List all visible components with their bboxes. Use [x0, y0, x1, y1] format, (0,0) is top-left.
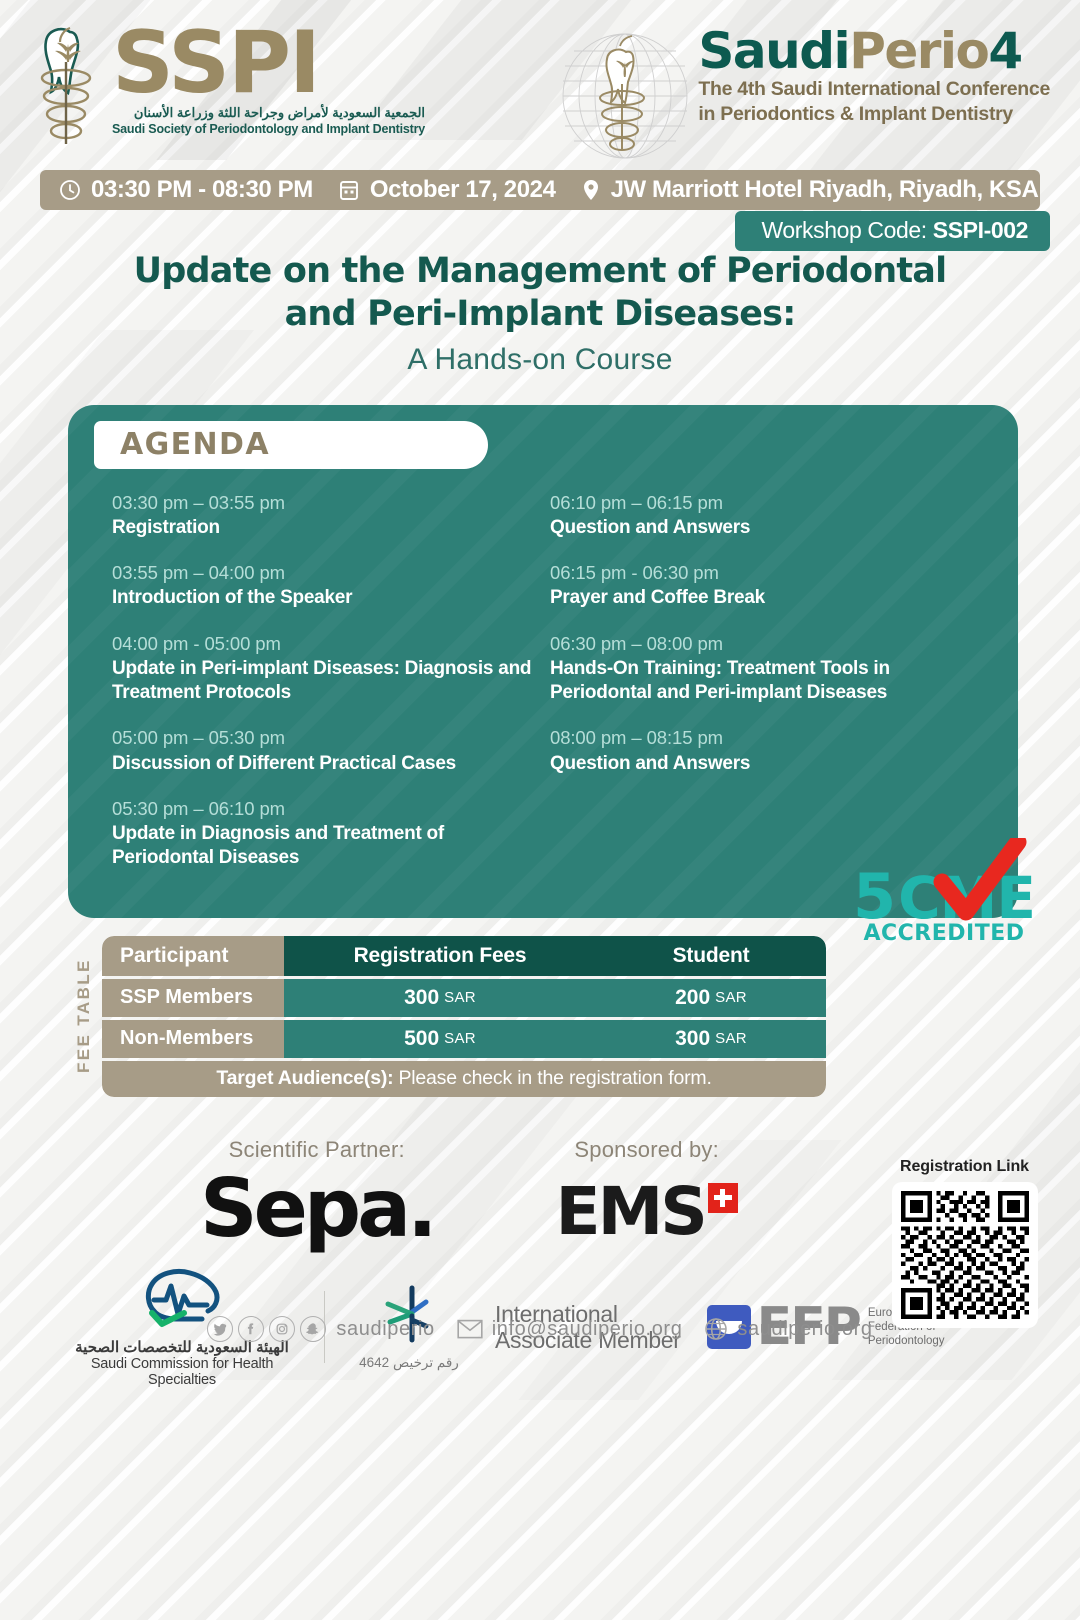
- saudiperio4-logo: SaudiPerio4 The 4th Saudi International …: [560, 26, 1050, 166]
- workshop-code-label: Workshop Code:: [761, 217, 932, 243]
- agenda-item: 03:55 pm – 04:00 pm Introduction of the …: [112, 561, 536, 610]
- twitter-icon[interactable]: [207, 1316, 233, 1342]
- qr-card[interactable]: [892, 1182, 1038, 1328]
- fee-table-side-label: FEE TABLE: [74, 950, 94, 1082]
- sponsor-block: Sponsored by: EMS: [556, 1137, 738, 1249]
- fee-row-fee: 500SAR: [284, 1020, 596, 1058]
- agenda-item: 06:30 pm – 08:00 pm Hands-On Training: T…: [550, 632, 974, 706]
- agenda-item-title: Registration: [112, 516, 536, 540]
- event-date-text: October 17, 2024: [370, 176, 556, 204]
- sspi-english-name: Saudi Society of Periodontology and Impl…: [112, 122, 425, 136]
- globe-icon: [704, 1317, 728, 1341]
- agenda-item-title: Question and Answers: [550, 516, 974, 540]
- agenda-left-column: 03:30 pm – 03:55 pm Registration 03:55 p…: [112, 491, 550, 892]
- location-pin-icon: [580, 178, 602, 202]
- fee-table: Participant Registration Fees Student SS…: [102, 936, 826, 1097]
- fee-row-student-amount: 300: [675, 1027, 710, 1051]
- fee-header-student: Student: [596, 936, 826, 976]
- agenda-item-time: 04:00 pm - 05:00 pm: [112, 632, 536, 655]
- event-time: 03:30 PM - 08:30 PM: [58, 176, 313, 204]
- agenda-item-time: 08:00 pm – 08:15 pm: [550, 726, 974, 749]
- title-line-1: Update on the Management of Periodontal: [60, 250, 1020, 293]
- agenda-right-column: 06:10 pm – 06:15 pm Question and Answers…: [550, 491, 988, 892]
- agenda-item-time: 05:30 pm – 06:10 pm: [112, 797, 536, 820]
- poster-header: SSPI الجمعية السعودية لأمراض وجراحة اللث…: [0, 0, 1080, 170]
- fee-row-student-amount: 200: [675, 986, 710, 1010]
- website-text: saudiperio.org: [737, 1318, 872, 1341]
- fee-row-student: 200SAR: [596, 979, 826, 1017]
- conference-subtitle-line2: in Periodontics & Implant Dentistry: [698, 103, 1050, 126]
- agenda-item: 06:15 pm - 06:30 pm Prayer and Coffee Br…: [550, 561, 974, 610]
- fee-row-fee-amount: 300: [404, 986, 439, 1010]
- license-number: رقم ترخيص 4642: [345, 1355, 473, 1371]
- fee-row-participant: Non-Members: [102, 1020, 284, 1058]
- agenda-item-title: Discussion of Different Practical Cases: [112, 752, 536, 776]
- agenda-panel: AGENDA 03:30 pm – 03:55 pm Registration …: [68, 405, 1018, 918]
- agenda-item-time: 06:10 pm – 06:15 pm: [550, 491, 974, 514]
- fee-row-fee-unit: SAR: [444, 1030, 476, 1047]
- fee-table-header-row: Participant Registration Fees Student: [102, 936, 826, 976]
- caduceus-tooth-icon: [30, 22, 108, 150]
- email-icon: [457, 1319, 483, 1339]
- sspi-text-block: SSPI الجمعية السعودية لأمراض وجراحة اللث…: [112, 24, 425, 136]
- fee-header-participant: Participant: [102, 936, 284, 976]
- title-line-2: and Peri-Implant Diseases:: [60, 293, 1020, 336]
- agenda-item-title: Prayer and Coffee Break: [550, 586, 974, 610]
- email-text: info@saudiperio.org: [492, 1318, 683, 1341]
- agenda-item: 04:00 pm - 05:00 pm Update in Peri-impla…: [112, 632, 536, 706]
- calendar-icon: [337, 178, 361, 202]
- sepa-logo: Sepa.: [200, 1169, 434, 1249]
- agenda-item-title: Introduction of the Speaker: [112, 586, 536, 610]
- poster-title-block: Update on the Management of Periodontal …: [0, 246, 1080, 377]
- agenda-item-title: Update in Diagnosis and Treatment of Per…: [112, 822, 536, 871]
- target-audience-label: Target Audience(s):: [216, 1067, 393, 1090]
- scientific-partner-block: Scientific Partner: Sepa.: [200, 1137, 434, 1249]
- sspi-logo: SSPI الجمعية السعودية لأمراض وجراحة اللث…: [30, 22, 425, 150]
- event-venue-text: JW Marriott Hotel Riyadh, Riyadh, KSA: [611, 176, 1039, 204]
- event-date: October 17, 2024: [337, 176, 556, 204]
- event-info-bar-wrapper: 03:30 PM - 08:30 PM October 17, 2024 JW …: [0, 170, 1080, 246]
- conference-subtitle-line1: The 4th Saudi International Conference: [698, 78, 1050, 101]
- fee-row-fee: 300SAR: [284, 979, 596, 1017]
- agenda-item-time: 06:15 pm - 06:30 pm: [550, 561, 974, 584]
- sspi-acronym: SSPI: [112, 24, 425, 103]
- fee-row-fee-unit: SAR: [444, 989, 476, 1006]
- fee-row-fee-amount: 500: [404, 1027, 439, 1051]
- ems-logo: EMS: [556, 1179, 738, 1245]
- wordmark-perio: Perio: [849, 22, 988, 80]
- fee-row-student-unit: SAR: [715, 989, 747, 1006]
- agenda-item: 08:00 pm – 08:15 pm Question and Answers: [550, 726, 974, 775]
- registration-qr-block: Registration Link: [877, 1158, 1052, 1333]
- agenda-item: 06:10 pm – 06:15 pm Question and Answers: [550, 491, 974, 540]
- fee-table-footer: Target Audience(s): Please check in the …: [102, 1061, 826, 1097]
- scfhs-english-name: Saudi Commission for Health Specialties: [60, 1356, 304, 1388]
- registration-link-label: Registration Link: [877, 1158, 1052, 1176]
- sponsor-caption: Sponsored by:: [556, 1137, 738, 1163]
- agenda-item-time: 05:00 pm – 05:30 pm: [112, 726, 536, 749]
- fee-header-registration-fees: Registration Fees: [284, 936, 596, 976]
- agenda-item-title: Hands-On Training: Treatment Tools in Pe…: [550, 657, 974, 706]
- event-info-bar: 03:30 PM - 08:30 PM October 17, 2024 JW …: [40, 170, 1040, 210]
- wordmark-four: 4: [988, 22, 1021, 80]
- poster-footer: saudiperio info@saudiperio.org saudiperi…: [0, 1316, 1080, 1342]
- wordmark-saudi: Saudi: [698, 22, 849, 80]
- event-venue: JW Marriott Hotel Riyadh, Riyadh, KSA: [580, 176, 1039, 204]
- agenda-item: 05:30 pm – 06:10 pm Update in Diagnosis …: [112, 797, 536, 871]
- title-subtitle: A Hands-on Course: [60, 343, 1020, 377]
- agenda-item: 03:30 pm – 03:55 pm Registration: [112, 491, 536, 540]
- social-handle: saudiperio: [336, 1318, 434, 1341]
- swiss-cross-icon: [708, 1183, 738, 1213]
- saudiperio4-wordmark: SaudiPerio4: [698, 26, 1050, 76]
- ems-wordmark: EMS: [556, 1179, 705, 1245]
- agenda-columns: 03:30 pm – 03:55 pm Registration 03:55 p…: [68, 469, 1018, 892]
- snapchat-icon[interactable]: [300, 1316, 326, 1342]
- fee-row-participant: SSP Members: [102, 979, 284, 1017]
- scientific-partner-caption: Scientific Partner:: [200, 1137, 434, 1163]
- agenda-heading: AGENDA: [120, 427, 270, 462]
- fee-table-row: SSP Members 300SAR 200SAR: [102, 979, 826, 1017]
- event-time-text: 03:30 PM - 08:30 PM: [91, 176, 313, 204]
- clock-icon: [58, 178, 82, 202]
- target-audience-text: Please check in the registration form.: [398, 1067, 711, 1090]
- social-icons: [207, 1316, 326, 1342]
- fee-row-student: 300SAR: [596, 1020, 826, 1058]
- workshop-code-value: SSPI-002: [933, 217, 1028, 243]
- fee-table-section: FEE TABLE Participant Registration Fees …: [0, 936, 1080, 1097]
- poster-page: SSPI الجمعية السعودية لأمراض وجراحة اللث…: [0, 0, 1080, 1350]
- qr-code-icon[interactable]: [901, 1191, 1029, 1319]
- globe-caduceus-icon: [560, 26, 690, 166]
- facebook-icon[interactable]: [238, 1316, 264, 1342]
- fee-row-student-unit: SAR: [715, 1030, 747, 1047]
- instagram-icon[interactable]: [269, 1316, 295, 1342]
- agenda-heading-tab: AGENDA: [94, 421, 488, 469]
- sspi-arabic-name: الجمعية السعودية لأمراض وجراحة اللثة وزر…: [112, 105, 425, 121]
- agenda-item-title: Question and Answers: [550, 752, 974, 776]
- agenda-item-time: 03:55 pm – 04:00 pm: [112, 561, 536, 584]
- agenda-item-time: 03:30 pm – 03:55 pm: [112, 491, 536, 514]
- agenda-item: 05:00 pm – 05:30 pm Discussion of Differ…: [112, 726, 536, 775]
- agenda-item-title: Update in Peri-implant Diseases: Diagnos…: [112, 657, 536, 706]
- fee-table-row: Non-Members 500SAR 300SAR: [102, 1020, 826, 1058]
- saudiperio4-text-block: SaudiPerio4 The 4th Saudi International …: [698, 26, 1050, 126]
- workshop-code-badge: Workshop Code: SSPI-002: [735, 211, 1050, 251]
- agenda-item-time: 06:30 pm – 08:00 pm: [550, 632, 974, 655]
